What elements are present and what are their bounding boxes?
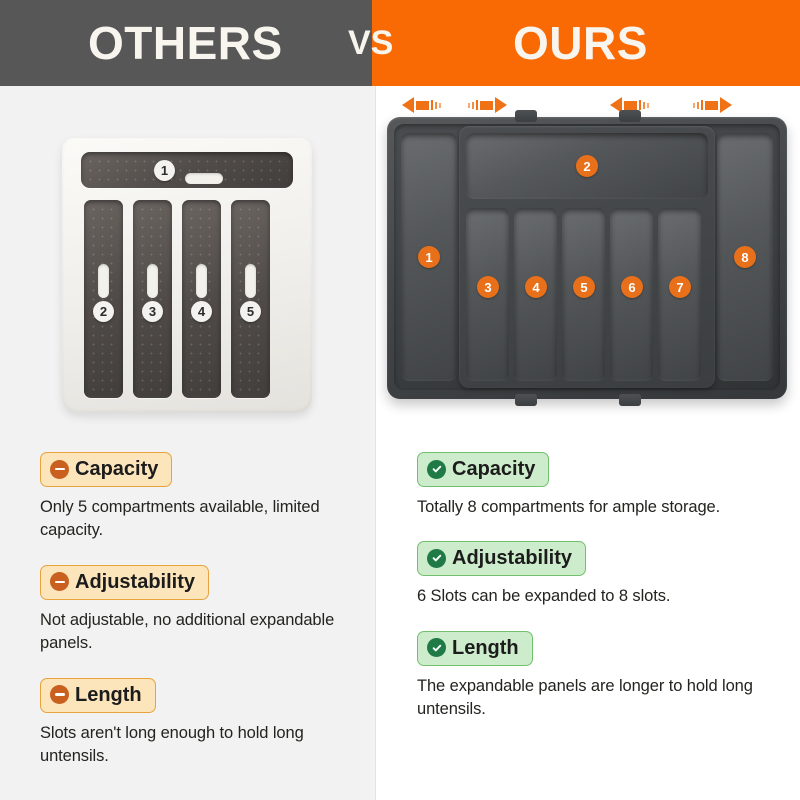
header-bar: OTHERS VS OURS: [0, 0, 800, 86]
motion-line: [435, 102, 437, 109]
callout-number-3: 3: [477, 276, 499, 298]
motion-lines: [639, 100, 649, 110]
motion-line: [643, 102, 645, 109]
motion-lines: [431, 100, 441, 110]
motion-line: [701, 100, 703, 110]
tray-slot-2: [84, 200, 123, 398]
callout-number-1: 1: [418, 246, 440, 268]
minus-circle-icon: [50, 572, 69, 591]
callout-number-5: 5: [240, 301, 261, 322]
length-badge-negative: Length: [40, 678, 156, 713]
arrow-tail: [480, 101, 493, 110]
motion-line: [472, 102, 474, 109]
badge-label: Adjustability: [452, 547, 572, 569]
slot-grip-dimple: [98, 264, 109, 298]
arrow-tail: [416, 101, 429, 110]
feature-item-length: Length Slots aren't long enough to hold …: [40, 678, 360, 769]
slot-grip-dimple: [245, 264, 256, 298]
callout-number-2: 2: [93, 301, 114, 322]
motion-line: [439, 103, 441, 108]
arrow-head: [720, 97, 732, 113]
slot-texture: [236, 205, 265, 393]
check-circle-icon: [427, 549, 446, 568]
slot-texture: [187, 205, 216, 393]
expandable-lug: [619, 394, 641, 406]
motion-lines: [693, 100, 703, 110]
callout-number-4: 4: [525, 276, 547, 298]
feature-description: 6 Slots can be expanded to 8 slots.: [417, 585, 787, 608]
callout-number-4: 4: [191, 301, 212, 322]
badge-label: Capacity: [452, 458, 535, 480]
expand-arrow-left-inner-icon: [468, 94, 507, 116]
feature-description: The expandable panels are longer to hold…: [417, 675, 787, 722]
arrow-head: [495, 97, 507, 113]
minus-circle-icon: [50, 685, 69, 704]
comparison-infographic: OTHERS VS OURS: [0, 0, 800, 800]
arrow-tail: [624, 101, 637, 110]
check-circle-icon: [427, 638, 446, 657]
minus-circle-icon: [50, 460, 69, 479]
expandable-lug: [619, 110, 641, 122]
feature-item-adjustability: Adjustability 6 Slots can be expanded to…: [417, 541, 787, 608]
capacity-badge-positive: Capacity: [417, 452, 549, 487]
motion-line: [476, 100, 478, 110]
callout-number-1: 1: [154, 160, 175, 181]
callout-number-8: 8: [734, 246, 756, 268]
ours-feature-list: Capacity Totally 8 compartments for ampl…: [417, 452, 787, 744]
header-ours-title: OURS: [513, 20, 648, 66]
slot-grip-dimple: [185, 173, 223, 184]
badge-label: Capacity: [75, 458, 158, 480]
arrow-tail: [705, 101, 718, 110]
ours-product-image: 1 2 3 4 5 6 7 8: [375, 86, 800, 436]
expansion-arrows-row: [375, 94, 800, 116]
motion-line: [647, 103, 649, 108]
tray-slot-3: [133, 200, 172, 398]
callout-number-7: 7: [669, 276, 691, 298]
feature-item-capacity: Capacity Totally 8 compartments for ampl…: [417, 452, 787, 519]
expandable-lug: [515, 110, 537, 122]
header-others-title: OTHERS: [88, 20, 283, 66]
feature-description: Not adjustable, no additional expandable…: [40, 609, 360, 656]
badge-label: Adjustability: [75, 571, 195, 593]
motion-lines: [468, 100, 478, 110]
slot-texture: [138, 205, 167, 393]
dark-expandable-cutlery-tray: 1 2 3 4 5 6 7 8: [387, 117, 787, 399]
header-vs-label: VS: [348, 26, 393, 60]
feature-description: Only 5 compartments available, limited c…: [40, 496, 360, 543]
motion-line: [697, 102, 699, 109]
feature-item-adjustability: Adjustability Not adjustable, no additio…: [40, 565, 360, 656]
callout-number-6: 6: [621, 276, 643, 298]
expand-arrow-right-outer-icon: [693, 94, 732, 116]
slot-texture: [89, 205, 118, 393]
expandable-lug: [515, 394, 537, 406]
tray-slot-4: [182, 200, 221, 398]
feature-description: Totally 8 compartments for ample storage…: [417, 496, 787, 519]
tray-slot-1: [81, 152, 293, 188]
others-product-image: 1 2 3 4 5: [0, 86, 375, 436]
feature-item-capacity: Capacity Only 5 compartments available, …: [40, 452, 360, 543]
motion-line: [693, 103, 695, 108]
others-feature-list: Capacity Only 5 compartments available, …: [40, 452, 360, 791]
motion-line: [431, 100, 433, 110]
check-circle-icon: [427, 460, 446, 479]
capacity-badge-negative: Capacity: [40, 452, 172, 487]
adjustability-badge-positive: Adjustability: [417, 541, 586, 576]
expand-arrow-left-outer-icon: [402, 94, 441, 116]
slot-grip-dimple: [147, 264, 158, 298]
feature-item-length: Length The expandable panels are longer …: [417, 631, 787, 722]
badge-label: Length: [75, 684, 142, 706]
adjustability-badge-negative: Adjustability: [40, 565, 209, 600]
callout-number-3: 3: [142, 301, 163, 322]
white-cutlery-tray: 1 2 3 4 5: [62, 138, 312, 413]
motion-line: [639, 100, 641, 110]
arrow-head: [402, 97, 414, 113]
feature-description: Slots aren't long enough to hold long un…: [40, 722, 360, 769]
length-badge-positive: Length: [417, 631, 533, 666]
badge-label: Length: [452, 637, 519, 659]
motion-line: [468, 103, 470, 108]
tray-slot-5: [231, 200, 270, 398]
slot-grip-dimple: [196, 264, 207, 298]
callout-number-2: 2: [576, 155, 598, 177]
callout-number-5: 5: [573, 276, 595, 298]
